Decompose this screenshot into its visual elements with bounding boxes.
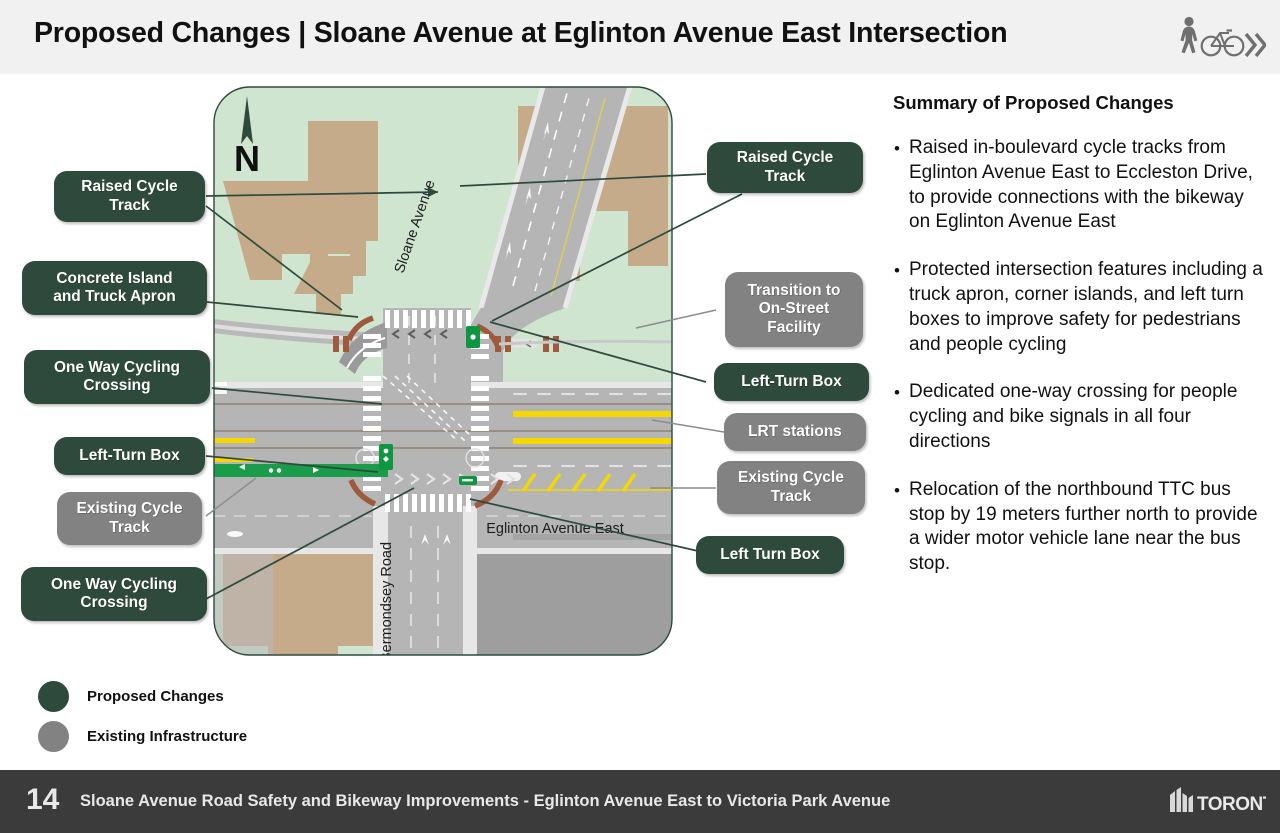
summary-bullet: • Relocation of the northbound TTC bus s… <box>893 478 1263 577</box>
callout-label: Transition to On-Street Facility <box>748 282 841 337</box>
summary-bullet: • Raised in-boulevard cycle tracks from … <box>893 136 1263 235</box>
callout-label: Existing Cycle Track <box>77 500 183 537</box>
callout-existing-cycle-track-right[interactable]: Existing Cycle Track <box>717 461 865 514</box>
footer-caption: Sloane Avenue Road Safety and Bikeway Im… <box>80 792 890 811</box>
summary-bullet: • Protected intersection features includ… <box>893 258 1263 357</box>
callout-label: Left Turn Box <box>720 546 820 564</box>
callout-one-way-cycling-crossing-lower[interactable]: One Way Cycling Crossing <box>21 567 207 621</box>
callout-label: Existing Cycle Track <box>738 469 844 506</box>
callout-label: Raised Cycle Track <box>737 149 834 186</box>
callout-raised-cycle-track-right[interactable]: Raised Cycle Track <box>707 142 863 193</box>
callout-label: Left-Turn Box <box>79 447 179 465</box>
pedestrian-bicycle-chevron-icon <box>1176 14 1266 60</box>
svg-text:Bermondsey Road: Bermondsey Road <box>379 542 395 656</box>
page-title: Proposed Changes | Sloane Avenue at Egli… <box>34 17 1007 50</box>
callout-label: Concrete Island and Truck Apron <box>53 270 176 307</box>
legend-label: Existing Infrastructure <box>87 728 247 745</box>
callout-label: One Way Cycling Crossing <box>51 576 177 613</box>
callout-left-turn-box-right[interactable]: Left-Turn Box <box>714 363 869 401</box>
legend-label: Proposed Changes <box>87 688 224 705</box>
legend-swatch-gray-icon <box>38 721 69 752</box>
bullet-marker: • <box>893 136 909 235</box>
callout-label: One Way Cycling Crossing <box>54 359 180 396</box>
svg-text:Eglinton Avenue East: Eglinton Avenue East <box>486 521 624 537</box>
callout-label: LRT stations <box>748 423 842 441</box>
footer-bar: 14 Sloane Avenue Road Safety and Bikeway… <box>0 770 1280 833</box>
summary-panel: Summary of Proposed Changes • Raised in-… <box>893 92 1263 600</box>
intersection-map[interactable]: N Sloane Avenue Eglinton Avenue East Ber… <box>213 86 673 656</box>
callout-existing-cycle-track-left[interactable]: Existing Cycle Track <box>57 492 202 545</box>
bullet-marker: • <box>893 258 909 357</box>
bullet-text: Raised in-boulevard cycle tracks from Eg… <box>909 136 1263 235</box>
callout-concrete-island-truck-apron[interactable]: Concrete Island and Truck Apron <box>22 261 207 315</box>
callout-one-way-cycling-crossing-upper[interactable]: One Way Cycling Crossing <box>24 350 210 404</box>
legend-item-proposed-changes: Proposed Changes <box>38 676 247 716</box>
map-graphic: N Sloane Avenue Eglinton Avenue East Ber… <box>213 86 673 656</box>
summary-bullet: • Dedicated one-way crossing for people … <box>893 380 1263 454</box>
callout-label: Left-Turn Box <box>741 373 841 391</box>
callout-transition-on-street-facility[interactable]: Transition to On-Street Facility <box>725 272 863 347</box>
callout-raised-cycle-track-left[interactable]: Raised Cycle Track <box>54 171 205 222</box>
map-legend: Proposed Changes Existing Infrastructure <box>38 676 247 756</box>
header-bar: Proposed Changes | Sloane Avenue at Egli… <box>0 0 1280 74</box>
logo-wordmark: TORONTO <box>1197 794 1266 815</box>
callout-lrt-stations[interactable]: LRT stations <box>724 413 866 451</box>
page-number: 14 <box>26 783 59 817</box>
bullet-marker: • <box>893 478 909 577</box>
svg-text:N: N <box>234 138 260 179</box>
callout-label: Raised Cycle Track <box>81 178 178 215</box>
bullet-text: Relocation of the northbound TTC bus sto… <box>909 478 1263 577</box>
legend-item-existing-infrastructure: Existing Infrastructure <box>38 716 247 756</box>
bullet-marker: • <box>893 380 909 454</box>
bullet-text: Protected intersection features includin… <box>909 258 1263 357</box>
callout-left-turn-box-bottom[interactable]: Left Turn Box <box>696 536 844 574</box>
summary-title: Summary of Proposed Changes <box>893 92 1263 114</box>
callout-left-turn-box-left[interactable]: Left-Turn Box <box>54 437 205 475</box>
city-of-toronto-logo: TORONTO <box>1168 786 1266 816</box>
legend-swatch-green-icon <box>38 681 69 712</box>
bullet-text: Dedicated one-way crossing for people cy… <box>909 380 1263 454</box>
